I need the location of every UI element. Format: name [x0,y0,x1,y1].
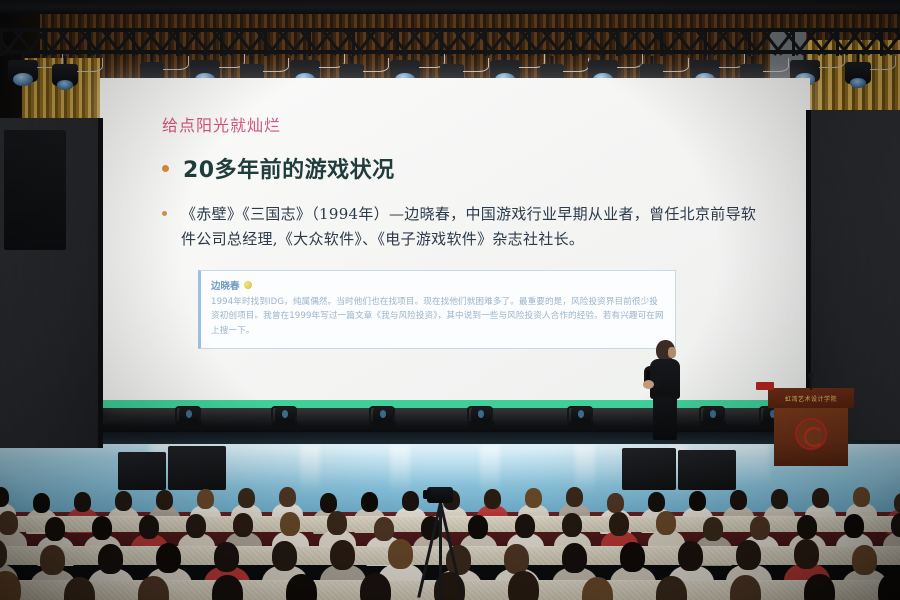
body-bullet-icon [162,211,167,216]
light-power-cable [870,56,896,70]
audience-member-head [730,490,747,510]
light-power-cable [763,58,789,72]
audience-member-head [656,511,676,535]
presenter-face [668,347,676,358]
light-lens-icon [478,410,484,418]
light-power-cable [463,58,489,72]
moving-head-light [370,398,396,428]
audience-member-head [238,488,255,508]
tripod-leg [439,503,463,598]
audience-member-head [703,517,723,541]
audience-member-head [388,539,413,569]
smiley-emoji-icon [244,281,252,289]
light-base [468,421,494,428]
audience-member-head [45,517,65,541]
truss-web-bracing [0,30,900,52]
audience-member-head [648,492,665,512]
audience-member-head [402,491,419,511]
light-power-cable [163,56,189,70]
audience-member-head [504,544,529,574]
audience-member-head [156,490,173,510]
audience-member-head [286,574,317,600]
stage-monitor-speaker [168,446,226,490]
podium-microphone-icon [810,376,812,390]
tripod-leg [439,503,442,600]
audience-member-head [508,571,539,600]
stage-light-fixture [8,52,38,86]
light-power-cable [263,58,289,72]
light-lens-icon [850,78,867,88]
audience-member-head [92,516,112,540]
auditorium-scene: 给点阳光就灿烂 20多年前的游戏状况 《赤壁》《三国志》（1994年）—边晓春，… [0,0,900,600]
audience-member-head [0,511,18,535]
podium: 虹湾艺术设计学院 [768,388,854,468]
audience-member-head [609,512,629,536]
audience-member-head [562,543,587,573]
quote-author-row: 边晓春 [211,278,665,292]
stage-monitor-speaker [622,448,676,490]
audience-member-head [197,489,214,509]
audience-member-head [330,540,355,570]
audience-member-head [214,542,239,572]
audience-member-head [233,513,253,537]
quote-author-name: 边晓春 [211,278,240,292]
light-lens-icon [13,73,32,86]
audience-member-head [361,492,378,512]
light-base [700,421,726,428]
light-lens-icon [186,410,192,418]
projection-screen: 给点阳光就灿烂 20多年前的游戏状况 《赤壁》《三国志》（1994年）—边晓春，… [100,78,810,408]
light-power-cable [563,58,589,72]
audience-member-head [750,516,770,540]
presenter-hand [643,380,654,389]
audience-member-head [40,545,65,575]
audience-member-head [272,541,297,571]
moving-head-light [700,398,726,428]
stage-monitor-speaker [678,450,736,490]
video-camera-icon [427,487,453,503]
slide-heading: 20多年前的游戏状况 [183,152,395,184]
moving-head-light [176,398,202,428]
podium-banner: 虹湾艺术设计学院 [768,388,854,408]
audience-member-head [98,544,123,574]
line-array-speaker-left [4,130,66,250]
audience-member-head [139,515,159,539]
light-body [845,62,871,84]
light-base [568,421,594,428]
red-name-card-icon [756,382,774,390]
audience-member-head [33,493,50,513]
light-base [272,421,298,428]
light-lens-icon [380,410,386,418]
audience-member-head [320,493,337,513]
light-lens-icon [710,410,716,418]
audience-member-head [812,488,829,508]
podium-banner-text: 虹湾艺术设计学院 [768,394,854,403]
light-power-cable [663,58,689,72]
audience-member-head [562,513,582,537]
audience-member-head [186,514,206,538]
light-power-cable [819,54,845,68]
slide-body-text: 《赤壁》《三国志》（1994年）—边晓春，中国游戏行业早期从业者，曾任北京前导软… [181,202,770,252]
audience-member-head [0,571,21,600]
light-body [8,60,38,82]
audience-member-head [804,574,835,600]
light-lens-icon [57,80,74,90]
light-power-cable [617,54,643,68]
audience-member-head [279,487,296,507]
audience-member-head [515,514,535,538]
slide-kicker-text: 给点阳光就灿烂 [162,112,770,136]
light-body [52,64,78,86]
audience-member-head [566,487,583,507]
audience-member-head [484,489,501,509]
light-lens-icon [282,410,288,418]
moving-head-light [272,398,298,428]
light-base [370,421,396,428]
audience-member-head [280,512,300,536]
audience-member-head [360,573,391,600]
audience-member-head [74,492,91,512]
audience-member-head [327,511,347,535]
audience-member-head [689,491,706,511]
quote-body-text: 1994年时找到IDG，纯属偶然。当时他们也在找项目。现在找他们就困难多了。最重… [211,295,665,339]
stage-light-fixture [845,54,871,88]
slide-heading-row: 20多年前的游戏状况 [162,152,770,184]
quote-callout-box: 边晓春 1994年时找到IDG，纯属偶然。当时他们也在找项目。现在找他们就困难多… [198,270,676,349]
audience-member-head [620,542,645,572]
presentation-slide: 给点阳光就灿烂 20多年前的游戏状况 《赤壁》《三国志》（1994年）—边晓春，… [100,78,810,408]
audience-member-head [678,541,703,571]
light-base [176,421,202,428]
audience-member-head [115,491,132,511]
school-seal-icon [795,418,827,450]
moving-head-light [568,398,594,428]
lighting-truss [0,28,900,54]
stage-monitor-speaker [118,452,166,490]
presenter-legs [653,397,677,440]
upper-truss-beam [0,0,900,14]
audience-member-head [607,493,624,513]
heading-bullet-icon [162,165,169,172]
presenter-figure [645,340,689,440]
audience-member-head [156,543,181,573]
slide-body-row: 《赤壁》《三国志》（1994年）—边晓春，中国游戏行业早期从业者，曾任北京前导软… [162,202,770,252]
stage-light-fixture [52,56,78,90]
light-lens-icon [578,410,584,418]
camera-tripod-right [854,485,900,600]
audience-member-head [736,540,761,570]
camera-tripod-center [418,487,462,600]
light-power-cable [77,58,103,72]
audience-member-head [468,515,488,539]
tripod-leg [417,503,441,598]
moving-head-light [468,398,494,428]
audience-member-head [797,515,817,539]
audience-member-head [525,488,542,508]
stage-floor-edge [0,432,900,444]
audience-member-head [374,517,394,541]
audience-member-head [771,489,788,509]
audience-member-head [794,539,819,569]
light-power-cable [363,58,389,72]
